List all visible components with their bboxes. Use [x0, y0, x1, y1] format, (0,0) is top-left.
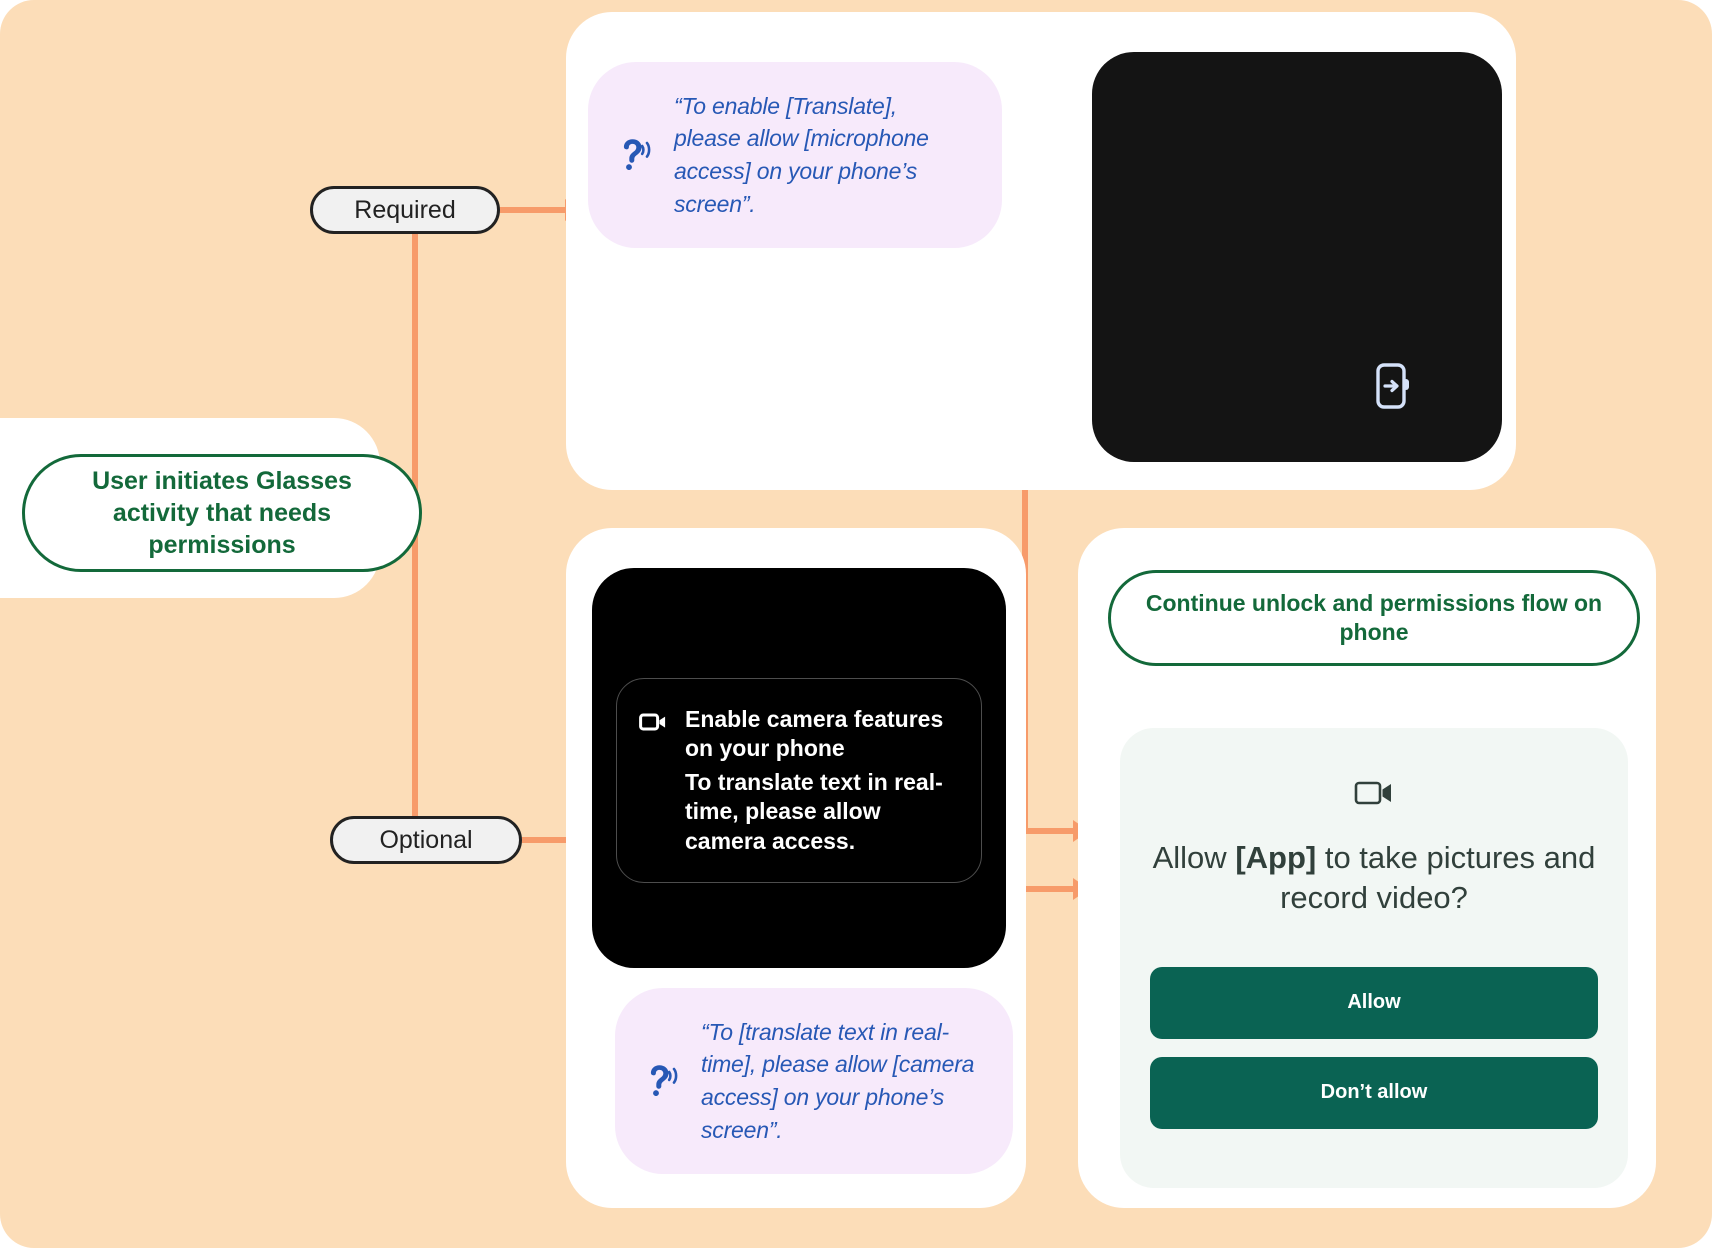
- android-permission-dialog: Allow [App] to take pictures and record …: [1120, 728, 1628, 1188]
- permission-question-suffix: to take pictures and record video?: [1280, 840, 1595, 915]
- connector-vertical-to-phone-h: [1022, 828, 1080, 834]
- speech-bubble-microphone-text: “To enable [Translate], please allow [mi…: [674, 90, 966, 221]
- glasses-notification: Enable camera features on your phone To …: [616, 678, 982, 883]
- allow-button[interactable]: Allow: [1150, 967, 1598, 1039]
- phone-arrow-in-icon: [1374, 362, 1414, 410]
- permission-question-app: [App]: [1235, 840, 1316, 875]
- notification-title: Enable camera features on your phone: [685, 705, 959, 764]
- notification-body: To translate text in real-time, please a…: [685, 768, 959, 856]
- connector-required-to-bubble: [500, 207, 568, 213]
- video-camera-icon: [1354, 778, 1394, 808]
- start-node[interactable]: User initiates Glasses activity that nee…: [22, 454, 422, 572]
- branch-pill-required[interactable]: Required: [310, 186, 500, 234]
- permission-question-prefix: Allow: [1153, 840, 1236, 875]
- glasses-lock-screen-card: [1092, 52, 1502, 462]
- speech-bubble-microphone: “To enable [Translate], please allow [mi…: [588, 62, 1002, 248]
- diagram-canvas: User initiates Glasses activity that nee…: [0, 0, 1712, 1248]
- speech-bubble-camera-text: “To [translate text in real-time], pleas…: [701, 1016, 977, 1147]
- connector-optional-to-card: [522, 837, 572, 843]
- continue-on-phone-node[interactable]: Continue unlock and permissions flow on …: [1108, 570, 1640, 666]
- speech-bubble-camera: “To [translate text in real-time], pleas…: [615, 988, 1013, 1174]
- ear-hearing-icon: [645, 1062, 679, 1100]
- dont-allow-button[interactable]: Don’t allow: [1150, 1057, 1598, 1129]
- permission-question: Allow [App] to take pictures and record …: [1150, 838, 1598, 919]
- branch-pill-optional[interactable]: Optional: [330, 816, 522, 864]
- glasses-notification-card: Enable camera features on your phone To …: [592, 568, 1006, 968]
- ear-hearing-icon: [618, 136, 652, 174]
- video-camera-icon: [639, 711, 667, 733]
